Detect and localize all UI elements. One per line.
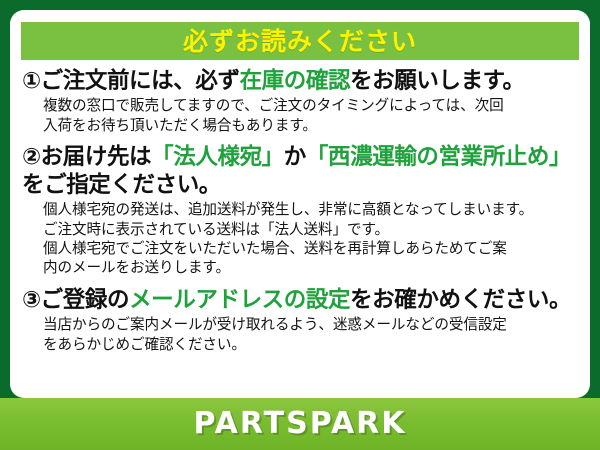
notice-item-2-subtext-line-4: 内のメールをお送りします。 [43, 258, 578, 277]
brand-logo-text: PARTSPARK [193, 409, 406, 439]
notice-item-1-number: ① [22, 68, 41, 94]
notice-item-1-subtext-line-1: 複数の窓口で販売してますので、ご注文のタイミングによっては、次回 [43, 96, 578, 115]
notice-banner: 必ずお読みください ①ご注文前には、必ず在庫の確認をお願いします。 複数の窓口で… [0, 0, 600, 450]
notice-item-3-heading: ③ご登録のメールアドレスの設定をお確かめください。 [22, 287, 578, 314]
notice-item-2-subtext-line-2: ご注文時に表示されている送料は「法人送料」です。 [43, 220, 578, 239]
notice-item-3-subtext-line-1: 当店からのご案内メールが受け取れるよう、迷惑メールなどの受信設定 [43, 315, 578, 334]
title-banner: 必ずお読みください [21, 22, 579, 60]
notice-item-2-head-part-3: か [284, 144, 306, 170]
notice-item-1-head-part-3: をお願いします。 [350, 68, 525, 94]
notice-item-2-subtext-line-1: 個人様宅宛の発送は、追加送料が発生し、非常に高額となってしまいます。 [43, 200, 578, 219]
notice-item-3-head-part-1: ご登録の [41, 287, 129, 313]
notice-item-1-heading: ①ご注文前には、必ず在庫の確認をお願いします。 [22, 68, 578, 95]
notice-item-2-head-highlight-2: 「西濃運輸の営業所止め」 [306, 144, 571, 170]
notice-item-2: ②お届け先は「法人様宛」か「西濃運輸の営業所止め」をご指定ください。 個人様宅宛… [22, 144, 578, 278]
notice-item-3-subtext: 当店からのご案内メールが受け取れるよう、迷惑メールなどの受信設定 をあらかじめご… [43, 315, 578, 354]
notice-item-2-subtext: 個人様宅宛の発送は、追加送料が発生し、非常に高額となってしまいます。 ご注文時に… [43, 200, 578, 278]
notice-body: ①ご注文前には、必ず在庫の確認をお願いします。 複数の窓口で販売してますので、ご… [10, 60, 590, 354]
notice-item-2-head-part-1: お届け先は [41, 144, 152, 170]
notice-item-2-head-part-5: をご指定ください。 [22, 172, 221, 198]
notice-item-1-head-part-1: ご注文前には、必ず [41, 68, 240, 94]
notice-item-2-subtext-line-3: 個人様宅宛でご注文をいただいた場合、送料を再計算しあらためてご案 [43, 239, 578, 258]
notice-item-2-number: ② [22, 144, 41, 170]
notice-item-1-subtext-line-2: 入荷をお待ち頂いただく場合もあります。 [43, 116, 578, 135]
notice-item-3-subtext-line-2: をあらかじめご確認ください。 [43, 335, 578, 354]
notice-item-2-heading: ②お届け先は「法人様宛」か「西濃運輸の営業所止め」をご指定ください。 [22, 144, 578, 199]
notice-item-2-head-highlight-1: 「法人様宛」 [151, 144, 284, 170]
page-title: 必ずお読みください [183, 29, 417, 54]
notice-item-1-subtext: 複数の窓口で販売してますので、ご注文のタイミングによっては、次回 入荷をお待ち頂… [43, 96, 578, 135]
notice-item-1: ①ご注文前には、必ず在庫の確認をお願いします。 複数の窓口で販売してますので、ご… [22, 68, 578, 135]
notice-item-3-number: ③ [22, 287, 41, 313]
notice-item-3-head-highlight: メールアドレスの設定 [129, 287, 350, 313]
notice-item-3: ③ご登録のメールアドレスの設定をお確かめください。 当店からのご案内メールが受け… [22, 287, 578, 354]
notice-item-1-head-highlight: 在庫の確認 [240, 68, 351, 94]
notice-card: 必ずお読みください ①ご注文前には、必ず在庫の確認をお願いします。 複数の窓口で… [10, 10, 590, 398]
notice-item-3-head-part-3: をお確かめください。 [350, 287, 571, 313]
footer-bar: PARTSPARK [0, 398, 600, 450]
